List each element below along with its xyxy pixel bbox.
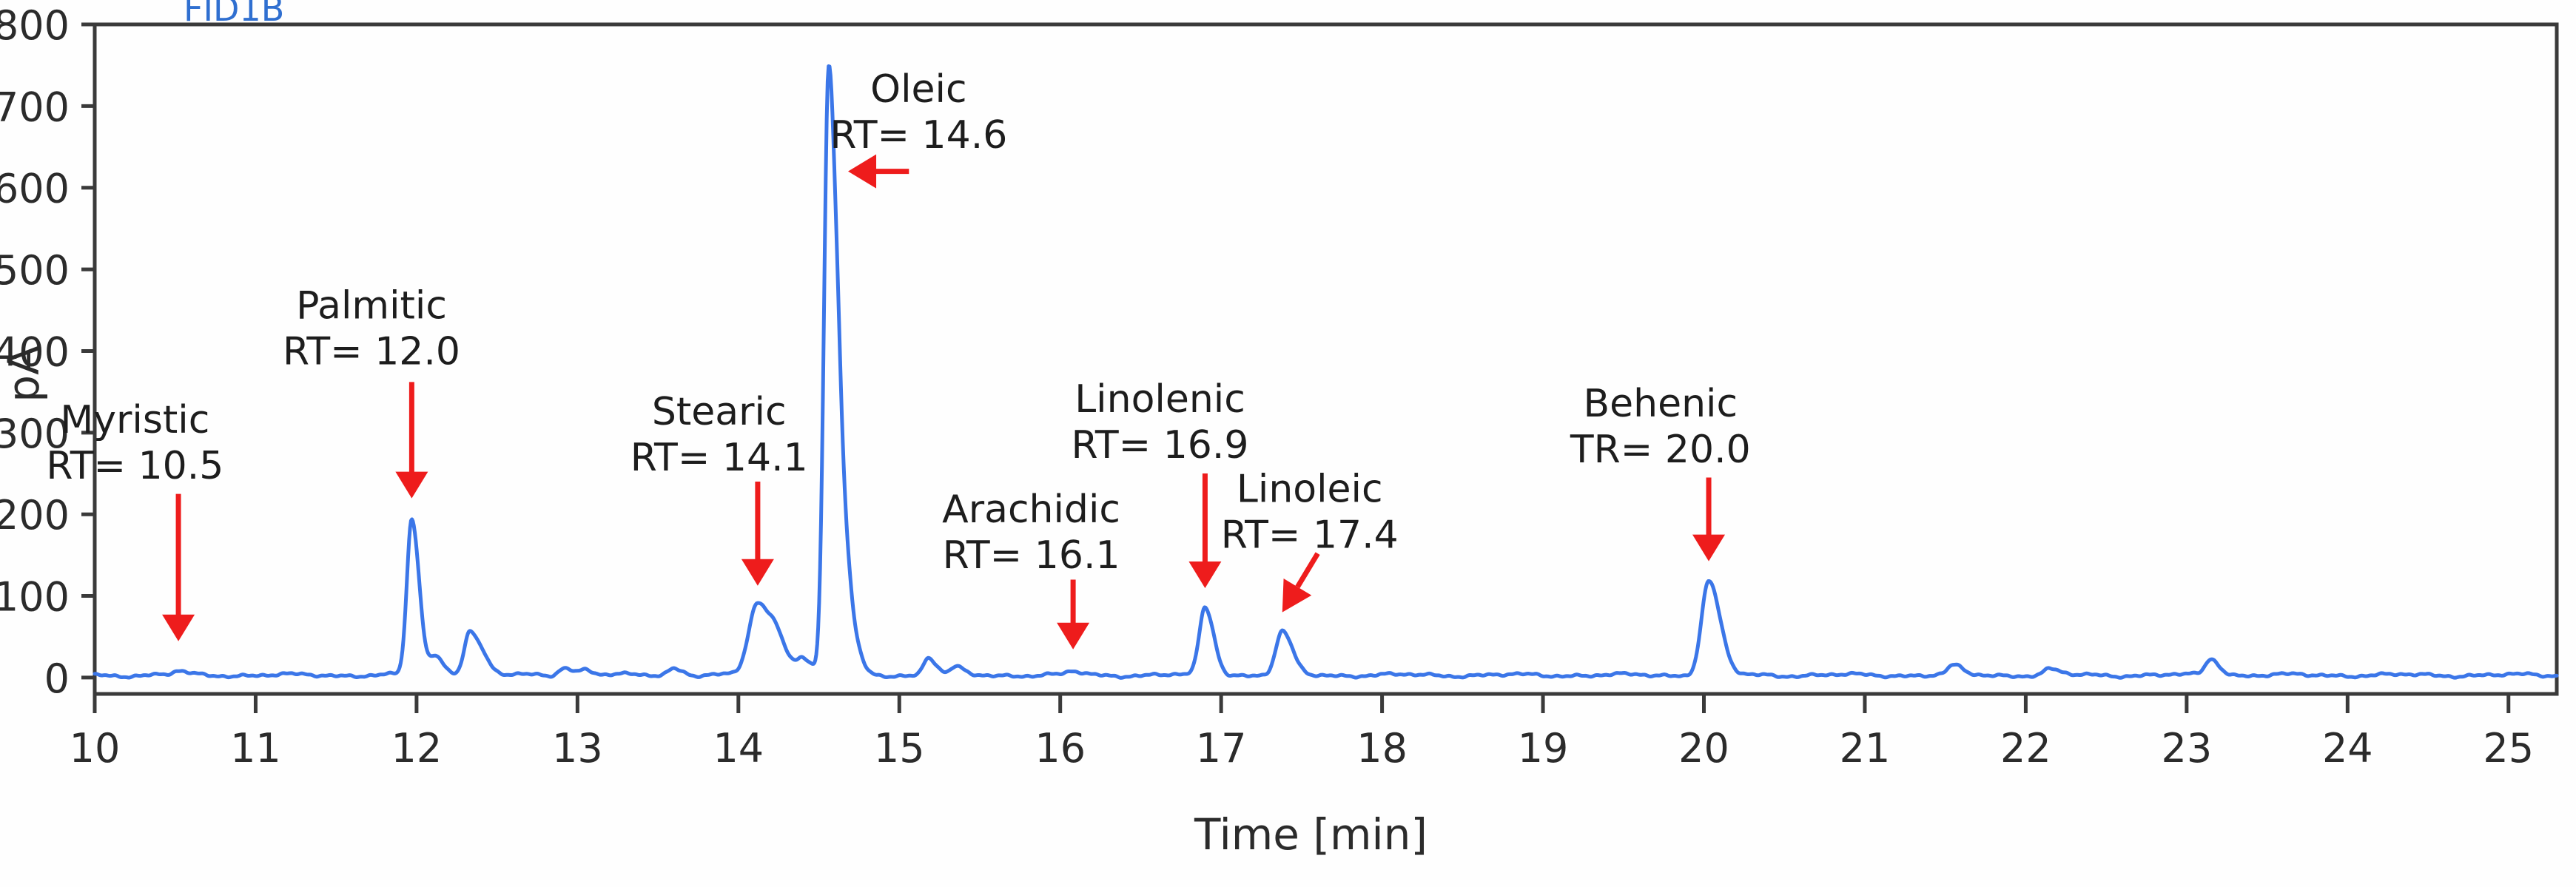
annotation-name: Stearic: [652, 390, 787, 434]
annotation-name: Palmitic: [296, 283, 447, 328]
annotation-rt: RT= 16.9: [1072, 423, 1249, 468]
x-tick-label: 14: [713, 725, 764, 772]
trace-legend-label: FID1B: [184, 0, 284, 29]
x-tick-label: 22: [2000, 725, 2051, 772]
annotation-rt: RT= 12.0: [283, 329, 460, 374]
y-tick-label: 100: [0, 574, 70, 621]
y-tick-label: 0: [44, 655, 70, 702]
x-tick-label: 17: [1196, 725, 1247, 772]
annotation-name: Arachidic: [942, 488, 1120, 532]
x-tick-label: 11: [230, 725, 281, 772]
annotation-rt: RT= 10.5: [46, 444, 223, 488]
annotation-name: Myristic: [60, 398, 209, 442]
y-tick-label: 700: [0, 84, 70, 130]
annotation-name: Linoleic: [1237, 468, 1383, 512]
x-tick-label: 13: [552, 725, 603, 772]
chromatogram-figure: 0100200300400500600700800 10111213141516…: [0, 0, 2576, 887]
y-tick-label: 200: [0, 492, 70, 539]
x-tick-label: 24: [2322, 725, 2373, 772]
x-tick-label: 16: [1035, 725, 1086, 772]
x-tick-label: 10: [70, 725, 121, 772]
x-tick-label: 15: [874, 725, 925, 772]
x-tick-label: 23: [2162, 725, 2213, 772]
x-tick-label: 19: [1518, 725, 1569, 772]
y-axis-title: pA: [0, 345, 49, 402]
annotation-rt: TR= 20.0: [1570, 428, 1751, 472]
x-tick-label: 20: [1678, 725, 1729, 772]
y-tick-label: 600: [0, 166, 70, 212]
y-tick-label: 800: [0, 2, 70, 49]
x-tick-label: 18: [1356, 725, 1408, 772]
annotation-name: Oleic: [870, 67, 966, 112]
x-tick-label: 25: [2483, 725, 2534, 772]
annotation-rt: RT= 16.1: [943, 533, 1120, 578]
annotation-rt: RT= 14.1: [630, 436, 808, 480]
chromatogram-chart: 0100200300400500600700800 10111213141516…: [0, 0, 2576, 887]
x-tick-label: 21: [1840, 725, 1891, 772]
annotation-name: Linolenic: [1075, 377, 1245, 422]
annotation-rt: RT= 17.4: [1221, 513, 1399, 558]
annotation-name: Behenic: [1583, 382, 1738, 426]
annotation-rt: RT= 14.6: [830, 113, 1007, 158]
y-tick-label: 500: [0, 247, 70, 294]
x-axis-title: Time [min]: [1194, 809, 1427, 860]
x-tick-label: 12: [391, 725, 443, 772]
